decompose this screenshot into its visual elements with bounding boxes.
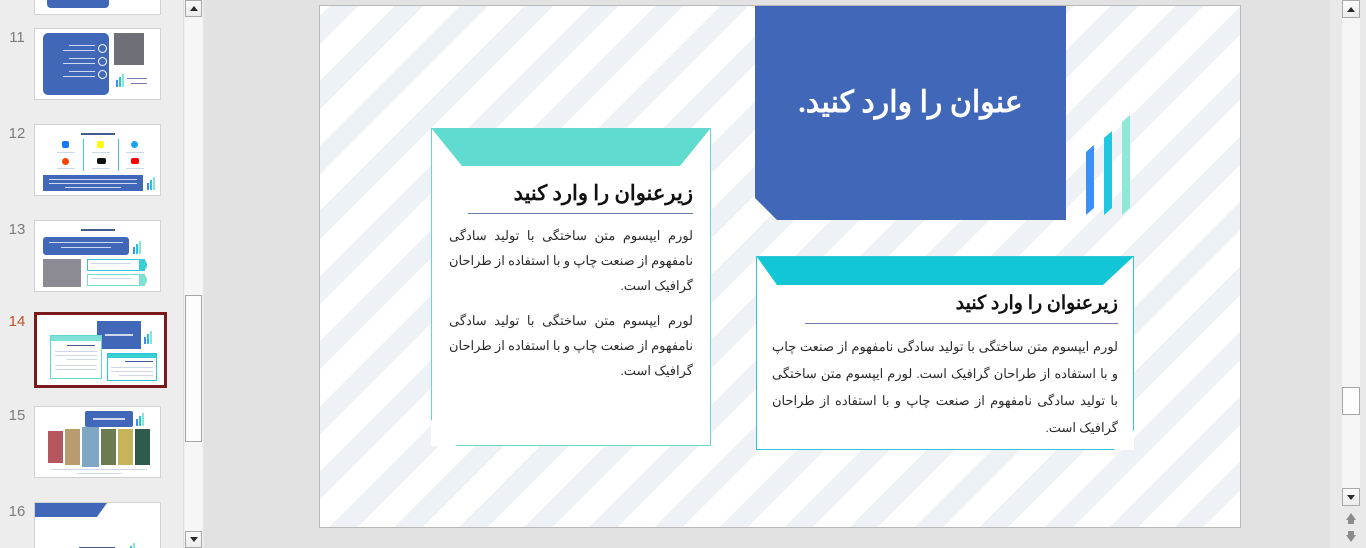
slide-title-block[interactable]: عنوان را وارد کنید. (755, 5, 1066, 220)
card-left-subtitle[interactable]: زیرعنوان را وارد کنید (449, 178, 693, 208)
thumbnail-scrollbar-thumb[interactable] (185, 295, 202, 442)
slide-thumbnail-10-partial[interactable] (0, 0, 183, 15)
card-right-divider (805, 323, 1118, 324)
slide-number-13: 13 (0, 220, 34, 238)
previous-slide-double-arrow-icon (1346, 513, 1356, 524)
slide-scrollbar-track[interactable] (1342, 18, 1360, 488)
card-right-paragraph-1[interactable]: لورم ایپسوم متن ساختگی با تولید سادگی نا… (772, 333, 1118, 441)
slide-thumbnail-12[interactable]: 12 (0, 124, 183, 196)
slide-thumbnail-16[interactable]: 16 (0, 502, 183, 548)
next-slide-double-arrow-icon (1346, 531, 1356, 542)
presentation-editor-window: 11 (0, 0, 1366, 548)
card-right-header-band (757, 257, 1133, 285)
card-left-paragraph-2[interactable]: لورم ایپسوم متن ساختگی با تولید سادگی نا… (449, 308, 693, 383)
slide-thumbnail-15[interactable]: 15 (0, 406, 183, 478)
next-slide-button[interactable] (1342, 528, 1360, 545)
scroll-down-arrow-icon (190, 537, 198, 542)
content-card-left[interactable]: زیرعنوان را وارد کنید لورم ایپسوم متن سا… (431, 128, 711, 446)
slide-thumbnail-image-16[interactable] (34, 502, 161, 548)
slide-thumbnail-13[interactable]: 13 (0, 220, 183, 292)
slide-edit-area: عنوان را وارد کنید. زیرعنوان را وارد کنی… (204, 0, 1330, 548)
slide-thumbnail-pane[interactable]: 11 (0, 0, 183, 548)
card-left-divider (468, 213, 693, 214)
slide-thumbnail-image-12[interactable] (34, 124, 161, 196)
slide-thumbnail-image-13[interactable] (34, 220, 161, 292)
slide-scrollbar-thumb[interactable] (1342, 387, 1360, 415)
scroll-up-arrow-icon (190, 6, 198, 11)
slide-scroll-down-button[interactable] (1342, 488, 1360, 506)
previous-slide-button[interactable] (1342, 510, 1360, 527)
card-left-body: زیرعنوان را وارد کنید لورم ایپسوم متن سا… (449, 178, 693, 393)
three-bars-logo-icon (1084, 111, 1140, 216)
slide-number-14: 14 (0, 312, 34, 330)
slide-scroll-up-button[interactable] (1342, 0, 1360, 18)
thumbnail-scroll-down-button[interactable] (185, 531, 202, 548)
slide-canvas[interactable]: عنوان را وارد کنید. زیرعنوان را وارد کنی… (319, 5, 1241, 528)
slide-thumbnail-11[interactable]: 11 (0, 28, 183, 100)
thumbnail-pane-scrollbar[interactable] (183, 0, 203, 548)
card-left-paragraph-1[interactable]: لورم ایپسوم متن ساختگی با تولید سادگی نا… (449, 223, 693, 298)
slide-thumbnail-image-14[interactable] (34, 312, 167, 388)
slide-title-text[interactable]: عنوان را وارد کنید. (798, 83, 1022, 122)
card-right-body: زیرعنوان را وارد کنید لورم ایپسوم متن سا… (772, 290, 1118, 451)
thumbnail-scroll-up-button[interactable] (185, 0, 202, 17)
slide-number-15: 15 (0, 406, 34, 424)
content-card-right[interactable]: زیرعنوان را وارد کنید لورم ایپسوم متن سا… (756, 256, 1134, 450)
scroll-up-arrow-icon (1347, 7, 1355, 12)
scroll-down-arrow-icon (1347, 495, 1355, 500)
slide-thumbnail-14[interactable]: 14 (0, 312, 183, 388)
slide-thumbnail-image-15[interactable] (34, 406, 161, 478)
slide-number-12: 12 (0, 124, 34, 142)
slide-pane-scrollbar[interactable] (1330, 0, 1366, 548)
slide-number-16: 16 (0, 502, 34, 520)
slide-thumbnail-image-10[interactable] (34, 0, 161, 15)
card-left-header-band (432, 129, 710, 166)
slide-number-11: 11 (0, 28, 34, 46)
slide-thumbnail-image-11[interactable] (34, 28, 161, 100)
thumbnail-scrollbar-track[interactable] (185, 17, 202, 531)
card-right-subtitle[interactable]: زیرعنوان را وارد کنید (772, 290, 1118, 318)
